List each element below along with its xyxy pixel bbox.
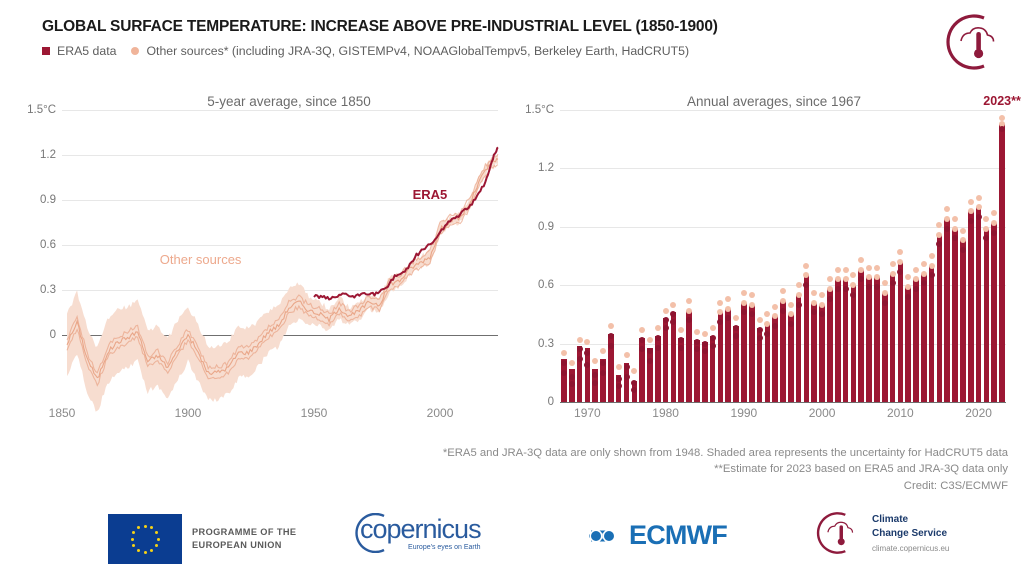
bar <box>804 275 810 402</box>
other-source-marker <box>670 302 676 308</box>
chart-panel-left: 5-year average, since 1850 00.30.60.91.2… <box>14 96 504 426</box>
x-axis-tick-label: 1950 <box>301 406 328 420</box>
bar <box>796 295 802 402</box>
other-source-marker <box>905 294 911 300</box>
other-source-marker <box>647 348 653 354</box>
other-source-marker <box>647 337 653 343</box>
other-source-marker <box>936 222 942 228</box>
y-axis-tick-label: 0.9 <box>40 194 56 206</box>
other-source-marker <box>772 313 778 319</box>
other-source-marker <box>670 319 676 325</box>
other-source-marker <box>631 368 637 374</box>
eu-star-icon <box>131 538 134 541</box>
other-source-marker <box>890 280 896 286</box>
x-axis-tick-label: 1990 <box>731 406 758 420</box>
other-source-marker <box>655 345 661 351</box>
other-source-marker <box>725 296 731 302</box>
eu-star-icon <box>132 544 135 547</box>
other-source-marker <box>686 298 692 304</box>
bar <box>952 229 958 402</box>
c3s-thermometer-cloud-icon <box>940 12 1006 72</box>
bar <box>741 303 747 402</box>
eu-star-icon <box>137 549 140 552</box>
eu-star-icon <box>150 526 153 529</box>
bar <box>827 289 833 402</box>
other-source-marker <box>803 272 809 278</box>
other-source-marker <box>788 321 794 327</box>
left-series-svg <box>62 110 498 402</box>
x-axis-tick-label: 1980 <box>652 406 679 420</box>
other-source-marker <box>584 350 590 356</box>
other-source-marker <box>796 292 802 298</box>
annotation-2023: 2023** <box>983 94 1021 108</box>
other-source-marker <box>608 323 614 329</box>
other-source-marker <box>976 204 982 210</box>
other-source-marker <box>577 337 583 343</box>
footnotes: *ERA5 and JRA-3Q data are only shown fro… <box>443 445 1008 494</box>
other-source-marker <box>890 261 896 267</box>
other-source-marker <box>655 335 661 341</box>
bar <box>999 124 1005 402</box>
legend-label-other-sources: Other sources* (including JRA-3Q, GISTEM… <box>146 45 689 57</box>
other-source-marker <box>913 267 919 273</box>
other-source-marker <box>803 263 809 269</box>
other-source-marker <box>952 216 958 222</box>
other-source-marker <box>858 257 864 263</box>
other-source-marker <box>608 333 614 339</box>
other-source-marker <box>741 300 747 306</box>
y-axis-tick-label: 1.5°C <box>525 104 554 116</box>
other-source-marker <box>710 335 716 341</box>
other-source-marker <box>663 317 669 323</box>
footnote-1: *ERA5 and JRA-3Q data are only shown fro… <box>443 445 1008 461</box>
ecmwf-wordmark: ECMWF <box>629 520 727 551</box>
other-source-marker <box>639 346 645 352</box>
ecmwf-symbol-icon <box>587 525 619 547</box>
other-source-marker <box>874 265 880 271</box>
x-axis-tick-label: 1900 <box>175 406 202 420</box>
other-source-marker <box>866 265 872 271</box>
other-source-marker <box>929 263 935 269</box>
bar <box>647 348 653 403</box>
other-source-marker <box>757 335 763 341</box>
bar <box>984 229 990 402</box>
other-source-marker <box>577 356 583 362</box>
other-source-marker <box>600 370 606 376</box>
eu-star-icon <box>132 531 135 534</box>
bar <box>898 262 904 402</box>
other-source-marker <box>694 339 700 345</box>
other-source-marker <box>600 348 606 354</box>
right-chart-title: Annual averages, since 1967 <box>516 94 1022 109</box>
other-source-marker <box>897 269 903 275</box>
other-source-marker <box>717 319 723 325</box>
right-plot-area: 00.30.60.91.21.5°C1970198019902000201020… <box>560 110 1006 402</box>
other-source-marker <box>561 350 567 356</box>
other-source-marker <box>835 267 841 273</box>
c3s-text-block: Climate Change Service climate.copernicu… <box>872 513 949 553</box>
x-axis-tick-label: 1970 <box>574 406 601 420</box>
other-source-marker <box>678 337 684 343</box>
other-source-marker <box>929 253 935 259</box>
other-source-marker <box>725 306 731 312</box>
bar <box>835 279 841 402</box>
bar <box>851 285 857 402</box>
other-source-marker <box>577 346 583 352</box>
c3s-url: climate.copernicus.eu <box>872 544 949 553</box>
other-source-marker <box>678 327 684 333</box>
other-source-marker <box>858 276 864 282</box>
other-source-marker <box>569 381 575 387</box>
y-axis-tick-label: 0.6 <box>538 279 554 291</box>
bar <box>874 277 880 402</box>
other-source-marker <box>890 271 896 277</box>
other-source-marker <box>780 288 786 294</box>
copernicus-logo-icon: copernicus Europe's eyes on Earth <box>360 516 481 551</box>
other-source-marker <box>835 276 841 282</box>
other-source-marker <box>647 358 653 364</box>
footer-copernicus-logo: copernicus Europe's eyes on Earth <box>360 516 481 551</box>
other-source-marker <box>921 280 927 286</box>
other-source-marker <box>663 325 669 331</box>
other-source-marker <box>717 309 723 315</box>
other-source-marker <box>608 343 614 349</box>
other-source-marker <box>670 311 676 317</box>
other-source-marker <box>592 372 598 378</box>
bar <box>991 223 997 402</box>
other-source-marker <box>811 309 817 315</box>
other-source-marker <box>843 286 849 292</box>
eu-star-icon <box>150 549 153 552</box>
other-source-marker <box>757 317 763 323</box>
other-source-marker <box>991 230 997 236</box>
bar <box>788 314 794 402</box>
other-source-marker <box>850 292 856 298</box>
other-source-marker <box>866 284 872 290</box>
bar <box>905 287 911 402</box>
other-source-marker <box>811 300 817 306</box>
y-axis-tick-label: 0.3 <box>538 338 554 350</box>
other-source-marker <box>999 126 1005 132</box>
x-axis-tick-label: 2000 <box>809 406 836 420</box>
other-source-marker <box>616 376 622 382</box>
other-source-marker <box>710 343 716 349</box>
other-source-marker <box>796 302 802 308</box>
bar <box>811 303 817 402</box>
y-axis-tick-label: 0.6 <box>40 239 56 251</box>
other-source-marker <box>913 276 919 282</box>
other-source-marker <box>616 383 622 389</box>
other-source-marker <box>991 220 997 226</box>
footer-c3s-logo: Climate Change Service climate.copernicu… <box>812 510 949 556</box>
eu-star-icon <box>155 531 158 534</box>
other-source-marker <box>983 235 989 241</box>
bar <box>968 211 974 402</box>
other-source-marker <box>764 321 770 327</box>
bar <box>725 309 731 402</box>
other-source-marker <box>960 237 966 243</box>
footnote-credit: Credit: C3S/ECMWF <box>443 478 1008 494</box>
other-source-marker <box>639 327 645 333</box>
eu-line-2: EUROPEAN UNION <box>192 539 296 552</box>
other-sources-series-label: Other sources <box>160 252 242 267</box>
other-source-marker <box>835 286 841 292</box>
other-source-marker <box>600 360 606 366</box>
other-source-marker <box>694 329 700 335</box>
other-source-marker <box>694 346 700 352</box>
other-source-marker <box>569 360 575 366</box>
eu-star-icon <box>137 526 140 529</box>
other-source-marker <box>882 300 888 306</box>
other-source-marker <box>702 331 708 337</box>
other-source-marker <box>678 345 684 351</box>
bar <box>843 279 849 402</box>
footer-eu-logo: PROGRAMME OF THE EUROPEAN UNION <box>108 514 296 564</box>
other-source-marker <box>897 249 903 255</box>
other-source-marker <box>921 271 927 277</box>
other-source-marker <box>991 210 997 216</box>
y-axis-tick-label: 1.2 <box>538 162 554 174</box>
other-source-marker <box>741 290 747 296</box>
other-source-marker <box>631 387 637 393</box>
bar <box>921 274 927 402</box>
bar <box>780 301 786 402</box>
other-source-marker <box>717 300 723 306</box>
eu-star-icon <box>155 544 158 547</box>
other-source-marker <box>882 280 888 286</box>
eu-star-icon <box>157 538 160 541</box>
era5-legend-swatch-icon <box>42 47 50 55</box>
other-source-marker <box>788 302 794 308</box>
other-source-marker <box>850 272 856 278</box>
other-source-marker <box>866 274 872 280</box>
legend-label-era5: ERA5 data <box>57 45 116 57</box>
other-source-marker <box>780 308 786 314</box>
other-source-marker <box>584 339 590 345</box>
c3s-logo-icon <box>812 510 862 556</box>
other-source-marker <box>772 304 778 310</box>
gridline <box>560 110 1006 111</box>
copernicus-arc-icon <box>354 513 388 553</box>
other-source-marker <box>749 302 755 308</box>
other-source-marker <box>858 267 864 273</box>
other-source-marker <box>764 311 770 317</box>
other-source-marker <box>827 286 833 292</box>
bar <box>976 207 982 402</box>
y-axis-tick-label: 0 <box>50 329 56 341</box>
y-axis-tick-label: 1.2 <box>40 149 56 161</box>
eu-star-icon <box>144 551 147 554</box>
legend: ERA5 data Other sources* (including JRA-… <box>42 45 689 57</box>
other-source-marker <box>631 380 637 386</box>
y-axis-tick-label: 1.5°C <box>27 104 56 116</box>
other-sources-legend-dot-icon <box>131 47 139 55</box>
other-source-marker <box>929 272 935 278</box>
other-source-marker <box>968 199 974 205</box>
other-source-marker <box>663 308 669 314</box>
other-source-marker <box>749 311 755 317</box>
other-source-marker <box>788 311 794 317</box>
other-source-marker <box>819 302 825 308</box>
other-source-marker <box>983 226 989 232</box>
other-source-marker <box>733 325 739 331</box>
left-plot-area: 00.30.60.91.21.5°C1850190019502000ERA5Ot… <box>62 110 498 402</box>
other-source-marker <box>803 282 809 288</box>
other-source-marker <box>827 296 833 302</box>
other-source-marker <box>944 216 950 222</box>
x-axis-tick-label: 2010 <box>887 406 914 420</box>
other-source-marker <box>976 214 982 220</box>
other-source-marker <box>960 228 966 234</box>
other-source-marker <box>733 315 739 321</box>
footer-ecmwf-logo: ECMWF <box>587 520 727 551</box>
other-source-marker <box>819 292 825 298</box>
other-source-marker <box>757 327 763 333</box>
other-source-marker <box>960 247 966 253</box>
other-source-marker <box>624 374 630 380</box>
other-source-marker <box>764 331 770 337</box>
other-source-marker <box>897 259 903 265</box>
bar <box>866 277 872 402</box>
eu-star-icon <box>144 525 147 528</box>
gridline <box>560 168 1006 169</box>
other-source-marker <box>561 360 567 366</box>
other-source-marker <box>780 298 786 304</box>
bar <box>890 274 896 402</box>
page-title: GLOBAL SURFACE TEMPERATURE: INCREASE ABO… <box>42 18 718 36</box>
other-source-marker <box>749 292 755 298</box>
other-source-marker <box>733 333 739 339</box>
bar <box>577 346 583 402</box>
other-source-marker <box>655 325 661 331</box>
other-source-marker <box>913 286 919 292</box>
other-source-marker <box>921 261 927 267</box>
other-source-marker <box>592 380 598 386</box>
other-source-marker <box>936 232 942 238</box>
other-source-marker <box>686 308 692 314</box>
other-source-marker <box>944 226 950 232</box>
y-axis-tick-label: 0.9 <box>538 221 554 233</box>
bar <box>913 279 919 402</box>
y-axis-tick-label: 0 <box>548 396 554 408</box>
y-axis-tick-label: 0.3 <box>40 284 56 296</box>
other-source-marker <box>741 309 747 315</box>
other-source-marker <box>811 290 817 296</box>
eu-flag-icon <box>108 514 182 564</box>
other-source-marker <box>592 358 598 364</box>
x-axis-tick-label: 2000 <box>427 406 454 420</box>
bar <box>749 305 755 402</box>
bar <box>858 270 864 402</box>
eu-line-1: PROGRAMME OF THE <box>192 526 296 539</box>
bar <box>772 316 778 402</box>
other-source-marker <box>882 290 888 296</box>
bar <box>882 293 888 402</box>
other-source-marker <box>639 337 645 343</box>
other-source-marker <box>819 311 825 317</box>
bar <box>960 240 966 402</box>
other-source-marker <box>944 206 950 212</box>
other-source-marker <box>616 364 622 370</box>
bar <box>929 266 935 402</box>
other-source-marker <box>874 274 880 280</box>
other-source-marker <box>968 208 974 214</box>
other-source-marker <box>968 218 974 224</box>
other-source-marker <box>952 226 958 232</box>
c3s-line-1: Climate <box>872 513 949 527</box>
footnote-2: **Estimate for 2023 based on ERA5 and JR… <box>443 461 1008 477</box>
other-source-marker <box>843 276 849 282</box>
eu-text: PROGRAMME OF THE EUROPEAN UNION <box>192 526 296 553</box>
gridline <box>560 402 1006 403</box>
bar <box>944 219 950 402</box>
bar <box>671 312 677 402</box>
bar <box>937 235 943 402</box>
other-source-marker <box>710 325 716 331</box>
other-source-marker <box>952 235 958 241</box>
other-source-marker <box>584 362 590 368</box>
other-source-marker <box>843 267 849 273</box>
c3s-line-2: Change Service <box>872 527 949 541</box>
other-source-marker <box>686 317 692 323</box>
bar <box>686 311 692 402</box>
other-source-marker <box>624 352 630 358</box>
x-axis-tick-label: 1850 <box>49 406 76 420</box>
other-source-marker <box>827 276 833 282</box>
other-source-marker <box>850 282 856 288</box>
other-source-marker <box>702 348 708 354</box>
other-source-marker <box>702 341 708 347</box>
left-chart-title: 5-year average, since 1850 <box>14 94 534 109</box>
other-source-marker <box>569 374 575 380</box>
chart-panel-right: Annual averages, since 1967 00.30.60.91.… <box>516 96 1012 426</box>
other-source-marker <box>874 284 880 290</box>
x-axis-tick-label: 2020 <box>965 406 992 420</box>
era5-series-label: ERA5 <box>413 187 448 202</box>
bar <box>718 312 724 402</box>
other-source-marker <box>725 315 731 321</box>
other-source-marker <box>796 282 802 288</box>
other-source-marker <box>624 364 630 370</box>
other-source-marker <box>772 323 778 329</box>
other-source-marker <box>561 370 567 376</box>
bar <box>819 305 825 402</box>
other-source-marker <box>976 195 982 201</box>
other-source-marker <box>905 284 911 290</box>
footer: PROGRAMME OF THE EUROPEAN UNION copernic… <box>0 500 1024 576</box>
other-source-marker <box>983 216 989 222</box>
other-source-marker <box>905 274 911 280</box>
other-source-marker <box>936 241 942 247</box>
